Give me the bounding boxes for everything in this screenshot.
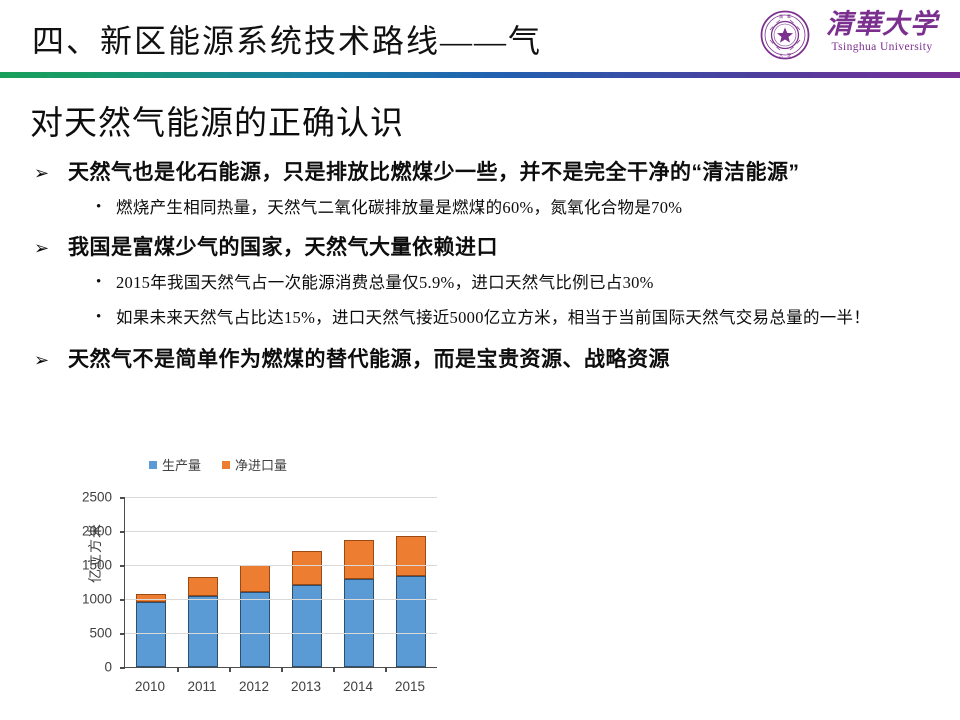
bullet-item-1-text: 天然气也是化石能源，只是排放比燃煤少一些，并不是完全干净的“清洁能源” bbox=[68, 158, 934, 188]
y-axis-tick-mark bbox=[120, 497, 125, 499]
grid-line bbox=[125, 531, 437, 532]
bar-column bbox=[292, 497, 322, 667]
bar-column bbox=[344, 497, 374, 667]
legend-label-net-import: 净进口量 bbox=[235, 455, 287, 474]
y-axis-tick-mark bbox=[120, 531, 125, 533]
bar-segment-production bbox=[396, 576, 426, 667]
y-tick-label: 500 bbox=[89, 626, 112, 641]
svg-text:華: 華 bbox=[787, 13, 791, 19]
x-tick-label: 2010 bbox=[135, 679, 165, 694]
svg-text:學: 學 bbox=[787, 52, 791, 58]
y-axis-tick-mark bbox=[120, 565, 125, 567]
legend-swatch-production bbox=[148, 460, 158, 470]
x-tick-label: 2011 bbox=[187, 679, 217, 694]
y-tick-label: 0 bbox=[104, 660, 112, 675]
x-axis-tick-mark bbox=[177, 667, 179, 672]
tsinghua-seal-icon: 清華 大學 bbox=[760, 10, 810, 60]
gas-production-import-chart: 生产量 净进口量 亿立方米 05001000150020002500 20102… bbox=[48, 455, 448, 705]
logo-wordmark-english: Tsinghua University bbox=[818, 40, 946, 54]
legend-label-production: 生产量 bbox=[162, 455, 201, 474]
y-tick-label: 2000 bbox=[82, 524, 112, 539]
legend-item-net-import: 净进口量 bbox=[221, 455, 287, 474]
sub-bullet-2-2: • 如果未来天然气占比达15%，进口天然气接近5000亿立方米，相当于当前国际天… bbox=[34, 304, 934, 331]
sub-bullet-2-1-text: 2015年我国天然气占一次能源消费总量仅5.9%，进口天然气比例已占30% bbox=[116, 269, 926, 296]
x-axis-tick-mark bbox=[333, 667, 335, 672]
chart-bars bbox=[125, 497, 437, 667]
chart-plot-wrapper: 05001000150020002500 2010201120122013201… bbox=[66, 497, 446, 705]
y-tick-label: 1500 bbox=[82, 558, 112, 573]
tsinghua-logo: 清華 大學 清華大学 Tsinghua University bbox=[760, 8, 946, 66]
grid-line bbox=[125, 599, 437, 600]
logo-wordmark: 清華大学 Tsinghua University bbox=[818, 8, 946, 54]
bar-segment-net-import bbox=[344, 540, 374, 579]
slide-header: 四、新区能源系统技术路线——气 清華 大學 清華大学 Tsinghua Univ… bbox=[0, 0, 960, 78]
x-axis-ticks: 201020112012201320142015 bbox=[124, 679, 436, 694]
bar-column bbox=[136, 497, 166, 667]
bullet-item-3: ➢ 天然气不是简单作为燃煤的替代能源，而是宝贵资源、战略资源 bbox=[34, 345, 934, 375]
x-tick-label: 2012 bbox=[239, 679, 269, 694]
x-tick-label: 2014 bbox=[343, 679, 373, 694]
y-axis-ticks: 05001000150020002500 bbox=[66, 497, 118, 667]
sub-bullet-dot-icon: • bbox=[96, 304, 116, 331]
header-title: 四、新区能源系统技术路线——气 bbox=[32, 16, 542, 62]
header-divider bbox=[0, 72, 960, 78]
grid-line bbox=[125, 633, 437, 634]
bar-segment-production bbox=[344, 579, 374, 667]
sub-bullet-dot-icon: • bbox=[96, 269, 116, 296]
sub-bullet-2-1: • 2015年我国天然气占一次能源消费总量仅5.9%，进口天然气比例已占30% bbox=[34, 269, 934, 296]
bullet-item-2: ➢ 我国是富煤少气的国家，天然气大量依赖进口 bbox=[34, 233, 934, 263]
bar-segment-production bbox=[240, 592, 270, 667]
bar-segment-net-import bbox=[240, 565, 270, 592]
sub-bullet-2-2-text: 如果未来天然气占比达15%，进口天然气接近5000亿立方米，相当于当前国际天然气… bbox=[116, 304, 926, 331]
bullet-arrow-icon: ➢ bbox=[34, 345, 68, 375]
bullet-item-2-text: 我国是富煤少气的国家，天然气大量依赖进口 bbox=[68, 233, 934, 263]
svg-text:清: 清 bbox=[779, 13, 783, 19]
bar-segment-production bbox=[292, 585, 322, 667]
x-axis-tick-mark bbox=[229, 667, 231, 672]
x-tick-label: 2013 bbox=[291, 679, 321, 694]
bullet-arrow-icon: ➢ bbox=[34, 233, 68, 263]
bar-segment-net-import bbox=[188, 577, 218, 596]
sub-bullet-1-1-text: 燃烧产生相同热量，天然气二氧化碳排放量是燃煤的60%，氮氧化合物是70% bbox=[116, 194, 926, 221]
y-axis-tick-mark bbox=[120, 599, 125, 601]
logo-wordmark-chinese: 清華大学 bbox=[818, 8, 946, 40]
y-tick-label: 2500 bbox=[82, 490, 112, 505]
chart-legend: 生产量 净进口量 bbox=[148, 455, 287, 474]
bar-column bbox=[188, 497, 218, 667]
bar-segment-production bbox=[188, 596, 218, 667]
svg-text:大: 大 bbox=[779, 52, 783, 58]
x-tick-label: 2015 bbox=[395, 679, 425, 694]
bar-column bbox=[396, 497, 426, 667]
sub-bullet-1-1: • 燃烧产生相同热量，天然气二氧化碳排放量是燃煤的60%，氮氧化合物是70% bbox=[34, 194, 934, 221]
y-axis-tick-mark bbox=[120, 633, 125, 635]
bullet-arrow-icon: ➢ bbox=[34, 158, 68, 188]
bar-segment-net-import bbox=[396, 536, 426, 576]
x-axis-tick-mark bbox=[385, 667, 387, 672]
y-tick-label: 1000 bbox=[82, 592, 112, 607]
page-title: 对天然气能源的正确认识 bbox=[30, 96, 404, 144]
legend-swatch-net-import bbox=[221, 460, 231, 470]
bullet-list: ➢ 天然气也是化石能源，只是排放比燃煤少一些，并不是完全干净的“清洁能源” • … bbox=[34, 158, 934, 380]
chart-plot-area bbox=[124, 497, 437, 668]
bar-segment-net-import bbox=[136, 594, 166, 602]
bullet-item-1: ➢ 天然气也是化石能源，只是排放比燃煤少一些，并不是完全干净的“清洁能源” bbox=[34, 158, 934, 188]
grid-line bbox=[125, 497, 437, 498]
grid-line bbox=[125, 565, 437, 566]
y-axis-tick-mark bbox=[120, 667, 125, 669]
legend-item-production: 生产量 bbox=[148, 455, 201, 474]
sub-bullet-dot-icon: • bbox=[96, 194, 116, 221]
bar-column bbox=[240, 497, 270, 667]
bullet-item-3-text: 天然气不是简单作为燃煤的替代能源，而是宝贵资源、战略资源 bbox=[68, 345, 934, 375]
x-axis-tick-mark bbox=[281, 667, 283, 672]
bar-segment-production bbox=[136, 602, 166, 667]
bar-segment-net-import bbox=[292, 551, 322, 585]
